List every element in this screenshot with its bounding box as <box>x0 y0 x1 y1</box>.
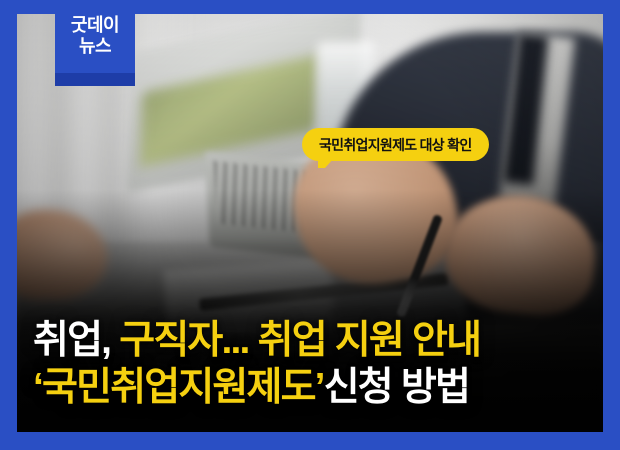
callout-bubble[interactable]: 국민취업지원제도 대상 확인 <box>302 128 489 161</box>
brand-logo-badge[interactable]: 굿데이 뉴스 <box>55 0 135 86</box>
headline-line-1: 취업, 구직자... 취업 지원 안내 <box>33 317 593 365</box>
headline: 취업, 구직자... 취업 지원 안내 ‘국민취업지원제도’신청 방법 <box>33 317 593 412</box>
callout-bubble-text: 국민취업지원제도 대상 확인 <box>319 135 472 155</box>
headline-line-1-white: 취업, <box>33 319 110 362</box>
frame-border-right <box>603 0 620 450</box>
frame-border-left <box>0 0 17 450</box>
brand-logo-line-2: 뉴스 <box>79 36 111 57</box>
headline-line-2: ‘국민취업지원제도’신청 방법 <box>33 364 593 412</box>
headline-line-2-white: 신청 방법 <box>324 366 469 409</box>
brand-logo-line-1: 굿데이 <box>71 15 119 36</box>
headline-line-2-yellow: ‘국민취업지원제도’ <box>33 366 324 409</box>
frame-border-bottom <box>0 432 620 450</box>
brand-logo-footer-strip <box>55 73 135 86</box>
news-thumbnail-card: 굿데이 뉴스 국민취업지원제도 대상 확인 취업, 구직자... 취업 지원 안… <box>0 0 620 450</box>
headline-line-1-yellow: 구직자... 취업 지원 안내 <box>119 319 480 362</box>
